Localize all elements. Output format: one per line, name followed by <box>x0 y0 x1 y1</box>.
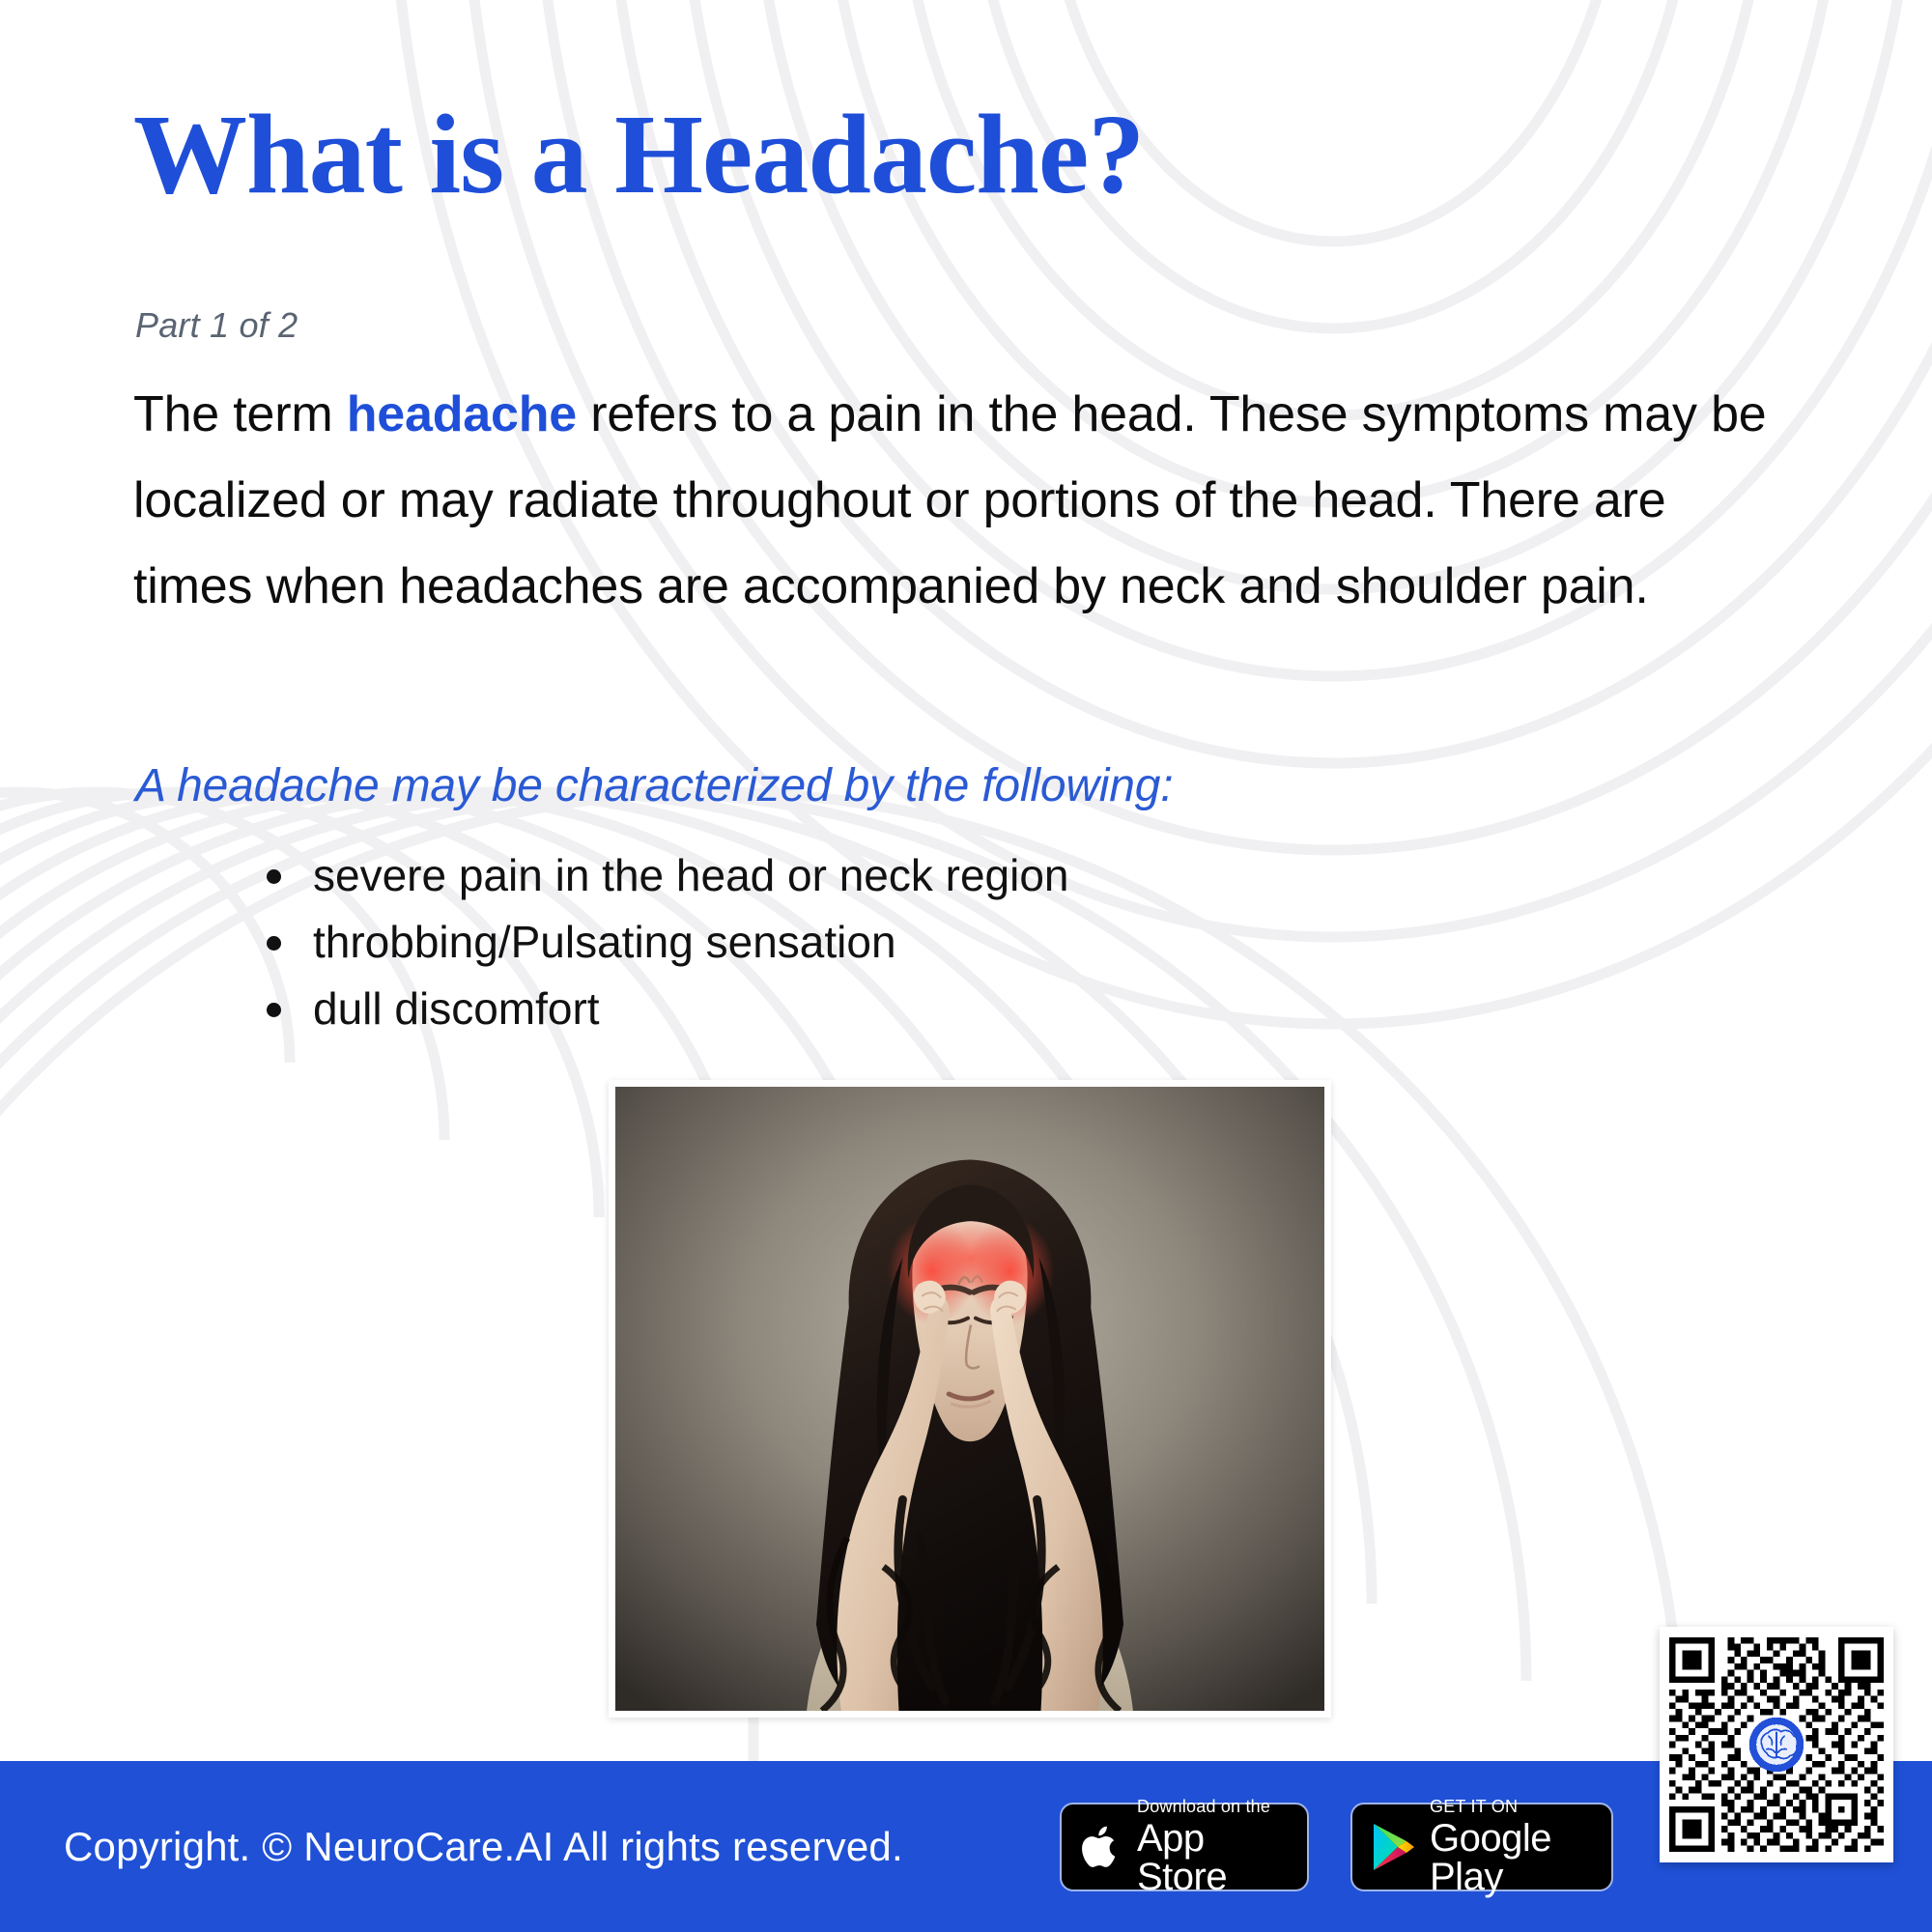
list-item-label: dull discomfort <box>313 983 600 1034</box>
list-item: dull discomfort <box>253 976 1069 1042</box>
bullet-dot-icon <box>267 1003 281 1017</box>
highlighted-term: headache <box>347 386 577 442</box>
list-item: throbbing/Pulsating sensation <box>253 909 1069 976</box>
brain-logo-icon <box>1749 1718 1804 1773</box>
body-paragraph: The term headache refers to a pain in th… <box>133 372 1795 630</box>
part-label: Part 1 of 2 <box>135 305 298 346</box>
app-store-small-label: Download on the <box>1137 1798 1288 1815</box>
symptom-list: severe pain in the head or neck region t… <box>253 842 1069 1042</box>
list-item-label: throbbing/Pulsating sensation <box>313 917 896 967</box>
bullet-dot-icon <box>267 936 281 951</box>
qr-code[interactable] <box>1660 1627 1893 1862</box>
body-text-before: The term <box>133 386 347 442</box>
google-play-small-label: GET IT ON <box>1430 1798 1592 1815</box>
list-item: severe pain in the head or neck region <box>253 842 1069 909</box>
lead-in-text: A headache may be characterized by the f… <box>135 759 1173 812</box>
headache-photo <box>609 1080 1331 1718</box>
app-store-badge[interactable]: Download on the App Store <box>1060 1803 1309 1891</box>
app-store-big-label: App Store <box>1137 1819 1288 1896</box>
apple-logo-icon <box>1079 1821 1123 1873</box>
google-play-triangle-icon <box>1370 1821 1416 1873</box>
copyright-text: Copyright. © NeuroCare.AI All rights res… <box>64 1824 903 1870</box>
google-play-badge[interactable]: GET IT ON Google Play <box>1350 1803 1613 1891</box>
photo-image <box>615 1087 1324 1711</box>
footer-bar: Copyright. © NeuroCare.AI All rights res… <box>0 1761 1932 1932</box>
list-item-label: severe pain in the head or neck region <box>313 850 1069 900</box>
google-play-big-label: Google Play <box>1430 1819 1592 1896</box>
bullet-dot-icon <box>267 869 281 884</box>
page-title: What is a Headache? <box>133 93 1144 215</box>
